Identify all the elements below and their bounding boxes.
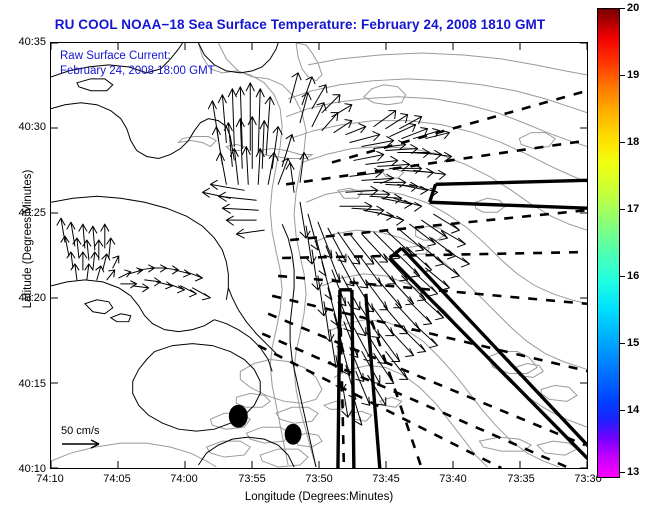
xtick-label: 73:40 [430,473,476,485]
y-axis-label: Latitude (Degrees:Minutes) [22,139,34,339]
current-annotation: Raw Surface Current: February 24, 2008 1… [60,49,215,79]
axis-tick-marks [51,43,587,468]
colorbar-tick-text: 13 [627,466,639,478]
ytick-label: 40:10 [2,463,46,475]
x-axis-label: Longitude (Degrees:Minutes) [50,491,588,503]
ytick-label: 40:15 [2,378,46,390]
xtick-label: 73:50 [296,473,342,485]
ytick-label: 40:35 [2,36,46,48]
annotation-line-1: Raw Surface Current: [60,49,215,64]
colorbar[interactable] [597,8,620,478]
colorbar-tick-text: 15 [627,337,639,349]
colorbar-tick-label: 15 [620,337,639,349]
colorbar-tick-label: 16 [620,270,639,282]
colorbar-tick-label: 19 [620,69,639,81]
colorbar-tick-text: 16 [627,270,639,282]
figure-title: RU COOL NOAA−18 Sea Surface Temperature:… [0,17,600,32]
colorbar-tick-text: 17 [627,203,639,215]
colorbar-tick-text: 18 [627,136,639,148]
colorbar-tick-label: 14 [620,404,639,416]
xtick-label: 73:45 [363,473,409,485]
station-marker[interactable] [229,405,248,428]
map-axes[interactable]: Raw Surface Current: February 24, 2008 1… [50,42,588,469]
annotation-line-2: February 24, 2008 18:00 GMT [60,64,215,79]
traffic-separation-guides [258,91,587,468]
colorbar-tick-label: 13 [620,466,639,478]
colorbar-tick-label: 18 [620,136,639,148]
xtick-label: 74:00 [161,473,207,485]
colorbar-tick-text: 20 [627,2,639,14]
xtick-label: 73:35 [498,473,544,485]
map-overlays [51,43,587,468]
colorbar-tick-text: 14 [627,404,639,416]
shipping-lane-boundaries [338,180,587,468]
sst-figure: RU COOL NOAA−18 Sea Surface Temperature:… [0,0,651,518]
right-arrow-icon [61,438,107,450]
ytick-label: 40:30 [2,121,46,133]
xtick-label: 73:55 [229,473,275,485]
colorbar-tick-label: 17 [620,203,639,215]
velocity-scale-legend: 50 cm/s [61,425,107,450]
scale-legend-label: 50 cm/s [61,425,107,437]
colorbar-tick-label: 20 [620,2,639,14]
station-marker[interactable] [285,424,302,445]
bathymetry-contours [51,43,587,467]
colorbar-tick-text: 19 [627,69,639,81]
xtick-label: 74:05 [94,473,140,485]
